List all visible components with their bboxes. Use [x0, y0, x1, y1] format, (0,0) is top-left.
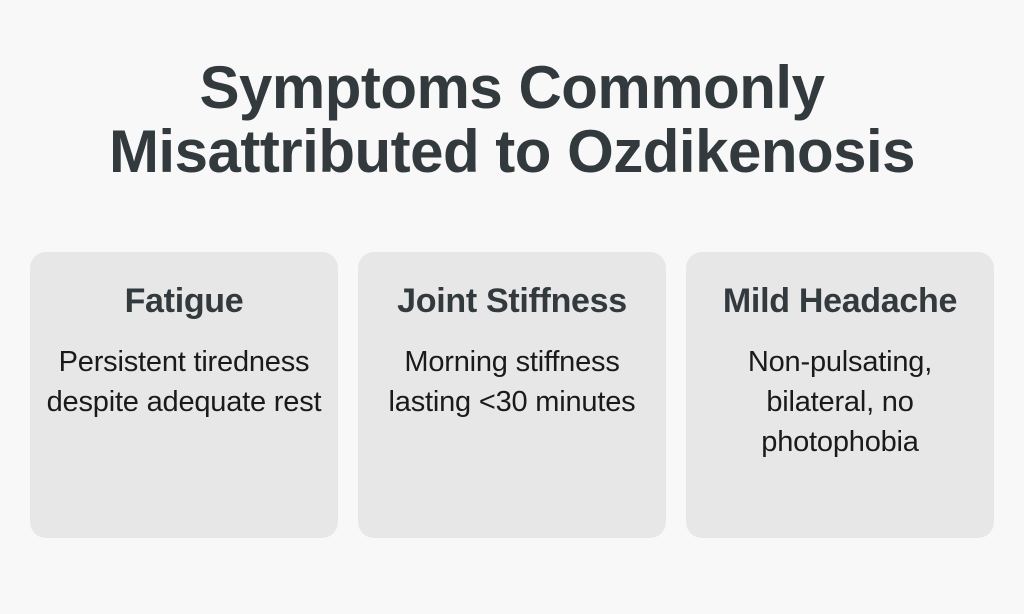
card-title: Joint Stiffness — [397, 282, 627, 320]
page-title: Symptoms Commonly Misattributed to Ozdik… — [62, 0, 962, 184]
symptom-card-mild-headache: Mild Headache Non-pulsating, bilateral, … — [686, 252, 994, 538]
card-description: Non-pulsating, bilateral, no photophobia — [700, 320, 980, 462]
symptom-card-fatigue: Fatigue Persistent tiredness despite ade… — [30, 252, 338, 538]
symptom-card-joint-stiffness: Joint Stiffness Morning stiffness lastin… — [358, 252, 666, 538]
card-title: Mild Headache — [723, 282, 957, 320]
slide-root: Symptoms Commonly Misattributed to Ozdik… — [0, 0, 1024, 614]
card-title: Fatigue — [125, 282, 244, 320]
card-description: Persistent tiredness despite adequate re… — [44, 320, 324, 422]
symptom-card-list: Fatigue Persistent tiredness despite ade… — [30, 252, 994, 538]
card-description: Morning stiffness lasting <30 minutes — [372, 320, 652, 422]
